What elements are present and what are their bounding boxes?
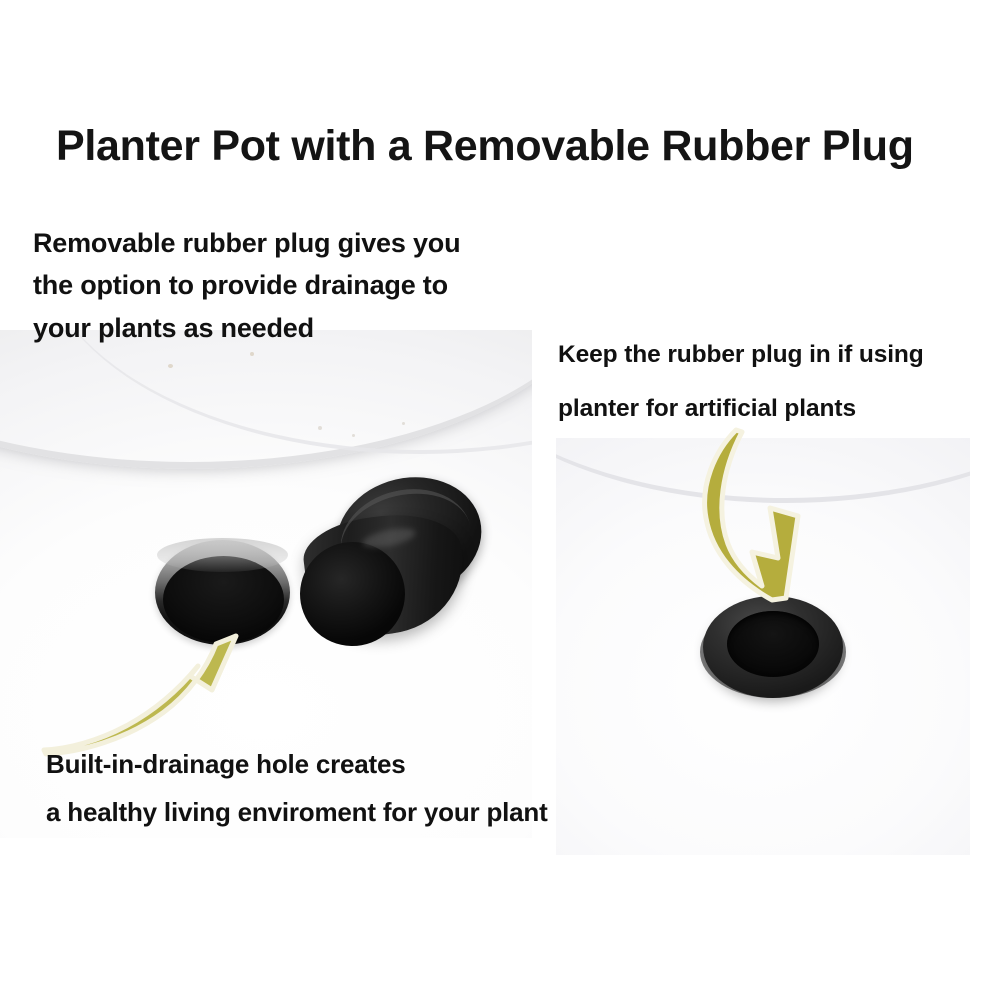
surface-speckle-icon	[250, 352, 254, 356]
arrow-to-seated-plug-icon	[692, 428, 862, 613]
caption-line: Keep the rubber plug in if using	[558, 328, 988, 382]
removed-rubber-plug	[300, 478, 482, 648]
caption-line: the option to provide drainage to	[33, 264, 543, 306]
surface-speckle-icon	[168, 364, 173, 368]
caption-line: Built-in-drainage hole creates	[46, 740, 606, 788]
surface-speckle-icon	[402, 422, 405, 425]
surface-speckle-icon	[352, 434, 355, 437]
caption-bottom-left: Built-in-drainage hole creates a healthy…	[46, 740, 606, 836]
caption-right: Keep the rubber plug in if using planter…	[558, 328, 988, 436]
hole-top-edge-highlight	[157, 538, 288, 572]
plug-recessed-center	[727, 611, 819, 677]
caption-line: a healthy living enviroment for your pla…	[46, 788, 606, 836]
caption-line: Removable rubber plug gives you	[33, 222, 543, 264]
caption-line: planter for artificial plants	[558, 382, 988, 436]
caption-top-left: Removable rubber plug gives you the opti…	[33, 222, 543, 349]
infographic-page: Planter Pot with a Removable Rubber Plug	[0, 0, 1000, 1000]
page-title: Planter Pot with a Removable Rubber Plug	[56, 124, 956, 169]
surface-speckle-icon	[318, 426, 322, 430]
caption-line: your plants as needed	[33, 307, 543, 349]
